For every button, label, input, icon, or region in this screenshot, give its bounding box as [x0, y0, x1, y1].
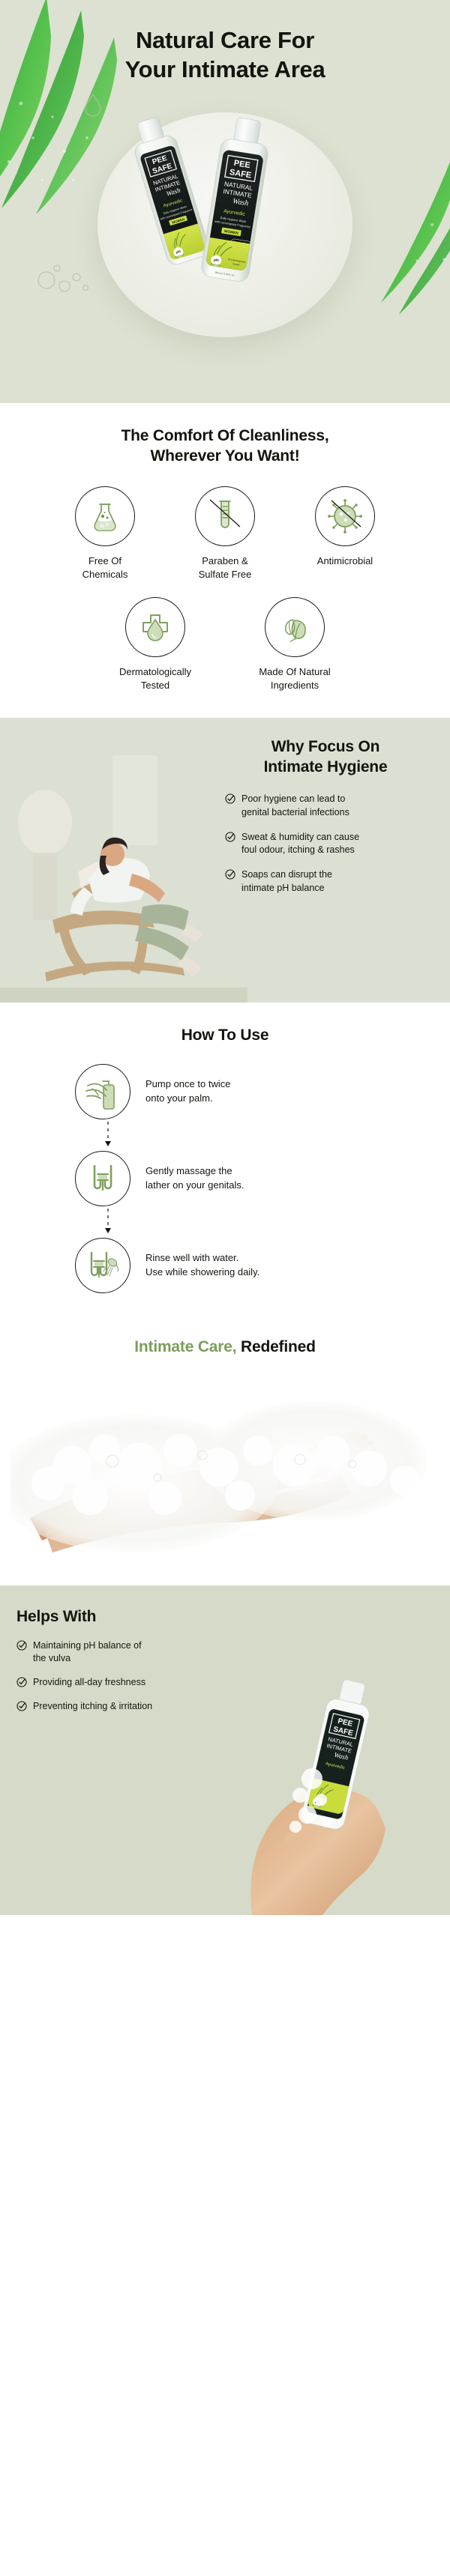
step-connector-1 [75, 1119, 375, 1151]
bullet-line1: Preventing itching & irritation [33, 1700, 152, 1714]
helps-with-section: Helps With Maintaining pH balance of the… [0, 1585, 450, 1915]
step-text: Pump once to twice onto your palm. [145, 1077, 230, 1106]
feature-icon-wrap [75, 486, 135, 546]
feature-label-line2: Chemicals [82, 568, 128, 581]
legs-with-foam-illustration [0, 1371, 450, 1585]
howto-step-1: Pump once to twice onto your palm. [75, 1064, 375, 1119]
howto-steps: Pump once to twice onto your palm. [75, 1064, 375, 1293]
howto-title: How To Use [0, 1025, 450, 1045]
tagline-dark-part: Redefined [241, 1338, 316, 1355]
redefined-section: Intimate Care, Redefined [0, 1319, 450, 1371]
why-title: Why Focus On Intimate Hygiene [213, 737, 438, 778]
leaves-icon [277, 609, 313, 645]
product-bottle-right: PEE SAFE NATURAL INTIMATE Wash Ayurvedic… [200, 115, 273, 282]
why-bullet-1: Poor hygiene can lead to genital bacteri… [213, 793, 438, 820]
tagline-green-part: Intimate Care, [134, 1338, 236, 1355]
feature-free-of-chemicals: Free Of Chemicals [52, 486, 157, 581]
why-bullet-text: Soaps can disrupt the intimate pH balanc… [241, 868, 332, 895]
feature-label-line1: Paraben & [199, 554, 252, 568]
feature-label-line2: Tested [119, 679, 191, 692]
bullet-line1: Maintaining pH balance of [33, 1639, 142, 1653]
check-circle-icon [225, 869, 235, 880]
how-to-use-section: How To Use Pump once to twice onto your [0, 1003, 450, 1318]
helps-bullet-3: Preventing itching & irritation [16, 1700, 247, 1714]
feature-dermatologically-tested: Dermatologically Tested [103, 597, 208, 692]
dashed-arrow-down-icon [103, 1120, 113, 1150]
step-icon-wrap [75, 1151, 130, 1206]
helps-bullet-1: Maintaining pH balance of the vulva [16, 1639, 247, 1666]
feature-icon-wrap [315, 486, 375, 546]
feature-natural-ingredients: Made Of Natural Ingredients [242, 597, 347, 692]
helps-bullet-text: Preventing itching & irritation [33, 1700, 152, 1714]
lather-legs-icon [85, 1161, 120, 1196]
feature-label-line1: Made Of Natural [259, 665, 330, 679]
bullet-line1: Sweat & humidity can cause [241, 831, 359, 844]
step-connector-2 [75, 1206, 375, 1238]
no-test-tube-icon [205, 497, 244, 536]
aloe-leaf-right-icon [345, 135, 450, 322]
step-text: Gently massage the lather on your genita… [145, 1164, 244, 1193]
features-section: The Comfort Of Cleanliness, Wherever You… [0, 403, 450, 718]
legs-lifestyle-photo [0, 1371, 450, 1585]
why-copy: Why Focus On Intimate Hygiene Poor hygie… [213, 737, 438, 906]
feature-label: Made Of Natural Ingredients [259, 665, 330, 692]
flask-icon [87, 498, 123, 534]
features-row-2: Dermatologically Tested Made Of Natural [13, 597, 436, 692]
medical-cross-droplet-icon [137, 609, 173, 645]
feature-label-line1: Dermatologically [119, 665, 191, 679]
step-line1: Rinse well with water. [145, 1251, 259, 1266]
bullet-line2: foul odour, itching & rashes [241, 844, 359, 857]
why-bullet-2: Sweat & humidity can cause foul odour, i… [213, 831, 438, 858]
features-title-line2: Wherever You Want! [13, 446, 436, 466]
check-circle-icon [225, 832, 235, 842]
features-title-line1: The Comfort Of Cleanliness, [13, 426, 436, 446]
bullet-line1: Poor hygiene can lead to [241, 793, 349, 806]
hero-title-line1: Natural Care For [0, 25, 450, 55]
feature-label-line1: Free Of [82, 554, 128, 568]
step-text: Rinse well with water. Use while showeri… [145, 1251, 259, 1280]
features-title: The Comfort Of Cleanliness, Wherever You… [13, 426, 436, 467]
why-bullet-text: Sweat & humidity can cause foul odour, i… [241, 831, 359, 858]
feature-icon-wrap [265, 597, 325, 657]
hero-section: Natural Care For Your Intimate Area [0, 0, 450, 403]
landing-page: Natural Care For Your Intimate Area [0, 0, 450, 1915]
feature-paraben-sulfate-free: Paraben & Sulfate Free [172, 486, 277, 581]
water-droplet-icon [78, 88, 108, 118]
feature-antimicrobial: Antimicrobial [292, 486, 397, 581]
step-line2: lather on your genitals. [145, 1179, 244, 1193]
rinse-shower-icon [84, 1248, 121, 1283]
feature-label: Antimicrobial [317, 554, 373, 568]
howto-step-2: Gently massage the lather on your genita… [75, 1151, 375, 1206]
step-line2: Use while showering daily. [145, 1266, 259, 1280]
helps-bullet-2: Providing all-day freshness [16, 1676, 247, 1690]
step-icon-wrap [75, 1064, 130, 1119]
step-icon-wrap [75, 1238, 130, 1293]
why-title-line2: Intimate Hygiene [213, 758, 438, 778]
feature-label-line1: Antimicrobial [317, 554, 373, 568]
hero-title: Natural Care For Your Intimate Area [0, 0, 450, 84]
helps-copy: Helps With Maintaining pH balance of the… [0, 1585, 247, 1714]
bullet-line2: intimate pH balance [241, 882, 332, 895]
check-circle-icon [16, 1640, 27, 1651]
step-line2: onto your palm. [145, 1092, 230, 1106]
feature-label-line2: Sulfate Free [199, 568, 252, 581]
step-line1: Gently massage the [145, 1164, 244, 1179]
redefined-tagline: Intimate Care, Redefined [0, 1338, 450, 1356]
hand-pump-icon [83, 1072, 122, 1111]
check-circle-icon [16, 1701, 27, 1711]
helps-bullet-text: Maintaining pH balance of the vulva [33, 1639, 142, 1666]
bullet-line2: genital bacterial infections [241, 806, 349, 820]
helps-bullet-text: Providing all-day freshness [33, 1676, 145, 1690]
why-hygiene-section: Why Focus On Intimate Hygiene Poor hygie… [0, 718, 450, 1003]
feature-label: Free Of Chemicals [82, 554, 128, 581]
features-row-1: Free Of Chemicals Paraben & [13, 486, 436, 581]
hero-title-line2: Your Intimate Area [0, 55, 450, 84]
bullet-line1: Providing all-day freshness [33, 1676, 145, 1690]
feature-icon-wrap [125, 597, 185, 657]
bullet-line1: Soaps can disrupt the [241, 868, 332, 882]
helps-title: Helps With [16, 1608, 247, 1626]
dashed-arrow-down-icon [103, 1207, 113, 1237]
howto-step-3: Rinse well with water. Use while showeri… [75, 1238, 375, 1293]
product-bottle-left: PEE SAFE NATURAL INTIMATE Wash Ayurvedic… [127, 114, 211, 267]
feature-label: Dermatologically Tested [119, 665, 191, 692]
feature-label-line2: Ingredients [259, 679, 330, 692]
product-bottles: PEE SAFE NATURAL INTIMATE Wash Ayurvedic… [101, 105, 349, 330]
check-circle-icon [225, 793, 235, 804]
step-line1: Pump once to twice [145, 1077, 230, 1092]
feature-label: Paraben & Sulfate Free [199, 554, 252, 581]
why-title-line1: Why Focus On [213, 737, 438, 758]
check-circle-icon [16, 1677, 27, 1687]
why-bullet-text: Poor hygiene can lead to genital bacteri… [241, 793, 349, 820]
no-microbe-icon [325, 497, 364, 536]
feature-icon-wrap [195, 486, 255, 546]
woman-in-rocking-chair-photo [0, 733, 247, 1003]
bullet-line2: the vulva [33, 1652, 142, 1666]
why-bullet-3: Soaps can disrupt the intimate pH balanc… [213, 868, 438, 895]
water-bubbles-icon [31, 247, 99, 300]
